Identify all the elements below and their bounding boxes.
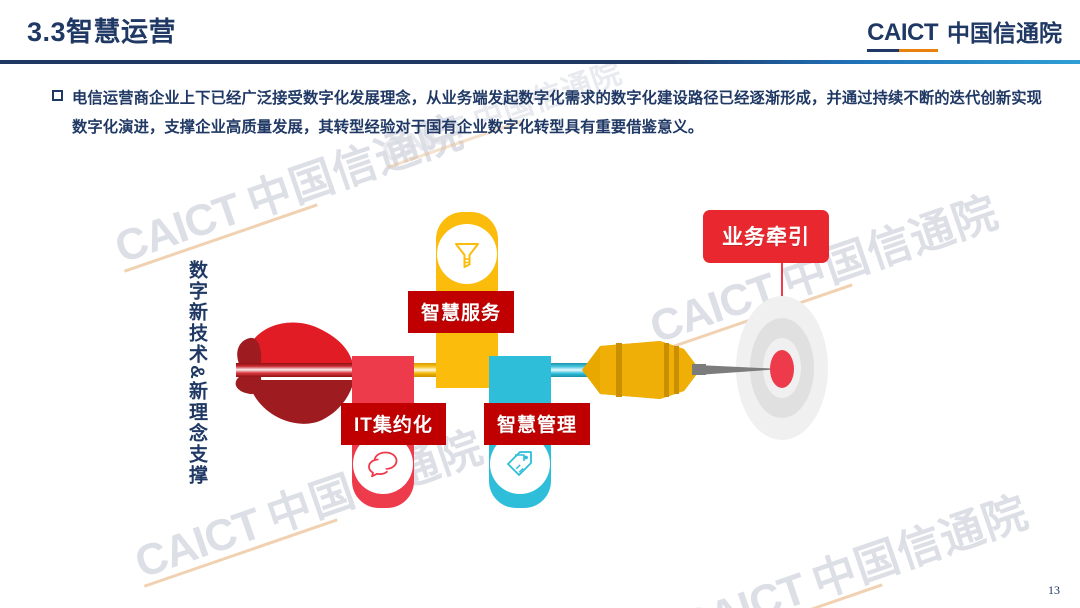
dart-fletching-upper-shadow <box>237 338 261 364</box>
page-title: 3.3智慧运营 <box>27 10 176 49</box>
dart-barrel <box>582 341 700 399</box>
watermark-en: CAICT <box>674 564 812 608</box>
slide-header: 3.3智慧运营 CAICT 中国信通院 <box>0 0 1080 62</box>
shaft-segment-red <box>236 363 360 377</box>
side-label-support: 数字新技术&新理念支撑 <box>186 260 206 486</box>
label-smart-management[interactable]: 智慧管理 <box>484 403 590 445</box>
dart-fletching-lower <box>248 380 354 424</box>
label-it-intensive[interactable]: IT集约化 <box>341 403 446 445</box>
square-bullet-icon <box>52 90 63 101</box>
dart-diagram: 数字新技术&新理念支撑 <box>0 150 1080 570</box>
caict-logo: CAICT 中国信通院 <box>867 14 1062 52</box>
dart-fletching-lower-shadow <box>236 377 262 394</box>
logo-mark-text: CAICT <box>867 19 938 52</box>
logo-name-text: 中国信通院 <box>947 14 1062 52</box>
label-business-traction[interactable]: 业务牵引 <box>703 210 829 263</box>
dart-needle-base <box>692 364 706 375</box>
funnel-icon <box>437 224 497 284</box>
label-smart-service[interactable]: 智慧服务 <box>408 291 514 333</box>
slide-root: CAICT中国信通院 CAICT中国信通院 CAICT中国信通院 CAICT中国… <box>0 0 1080 608</box>
header-divider <box>0 60 1080 64</box>
body-text-block: 电信运营商企业上下已经广泛接受数字化发展理念，从业务端发起数字化需求的数字化建设… <box>52 84 1042 142</box>
body-paragraph: 电信运营商企业上下已经广泛接受数字化发展理念，从业务端发起数字化需求的数字化建设… <box>72 84 1042 142</box>
target-bullseye <box>770 350 794 388</box>
page-number: 13 <box>1048 583 1060 598</box>
watermark-underline <box>689 583 883 608</box>
